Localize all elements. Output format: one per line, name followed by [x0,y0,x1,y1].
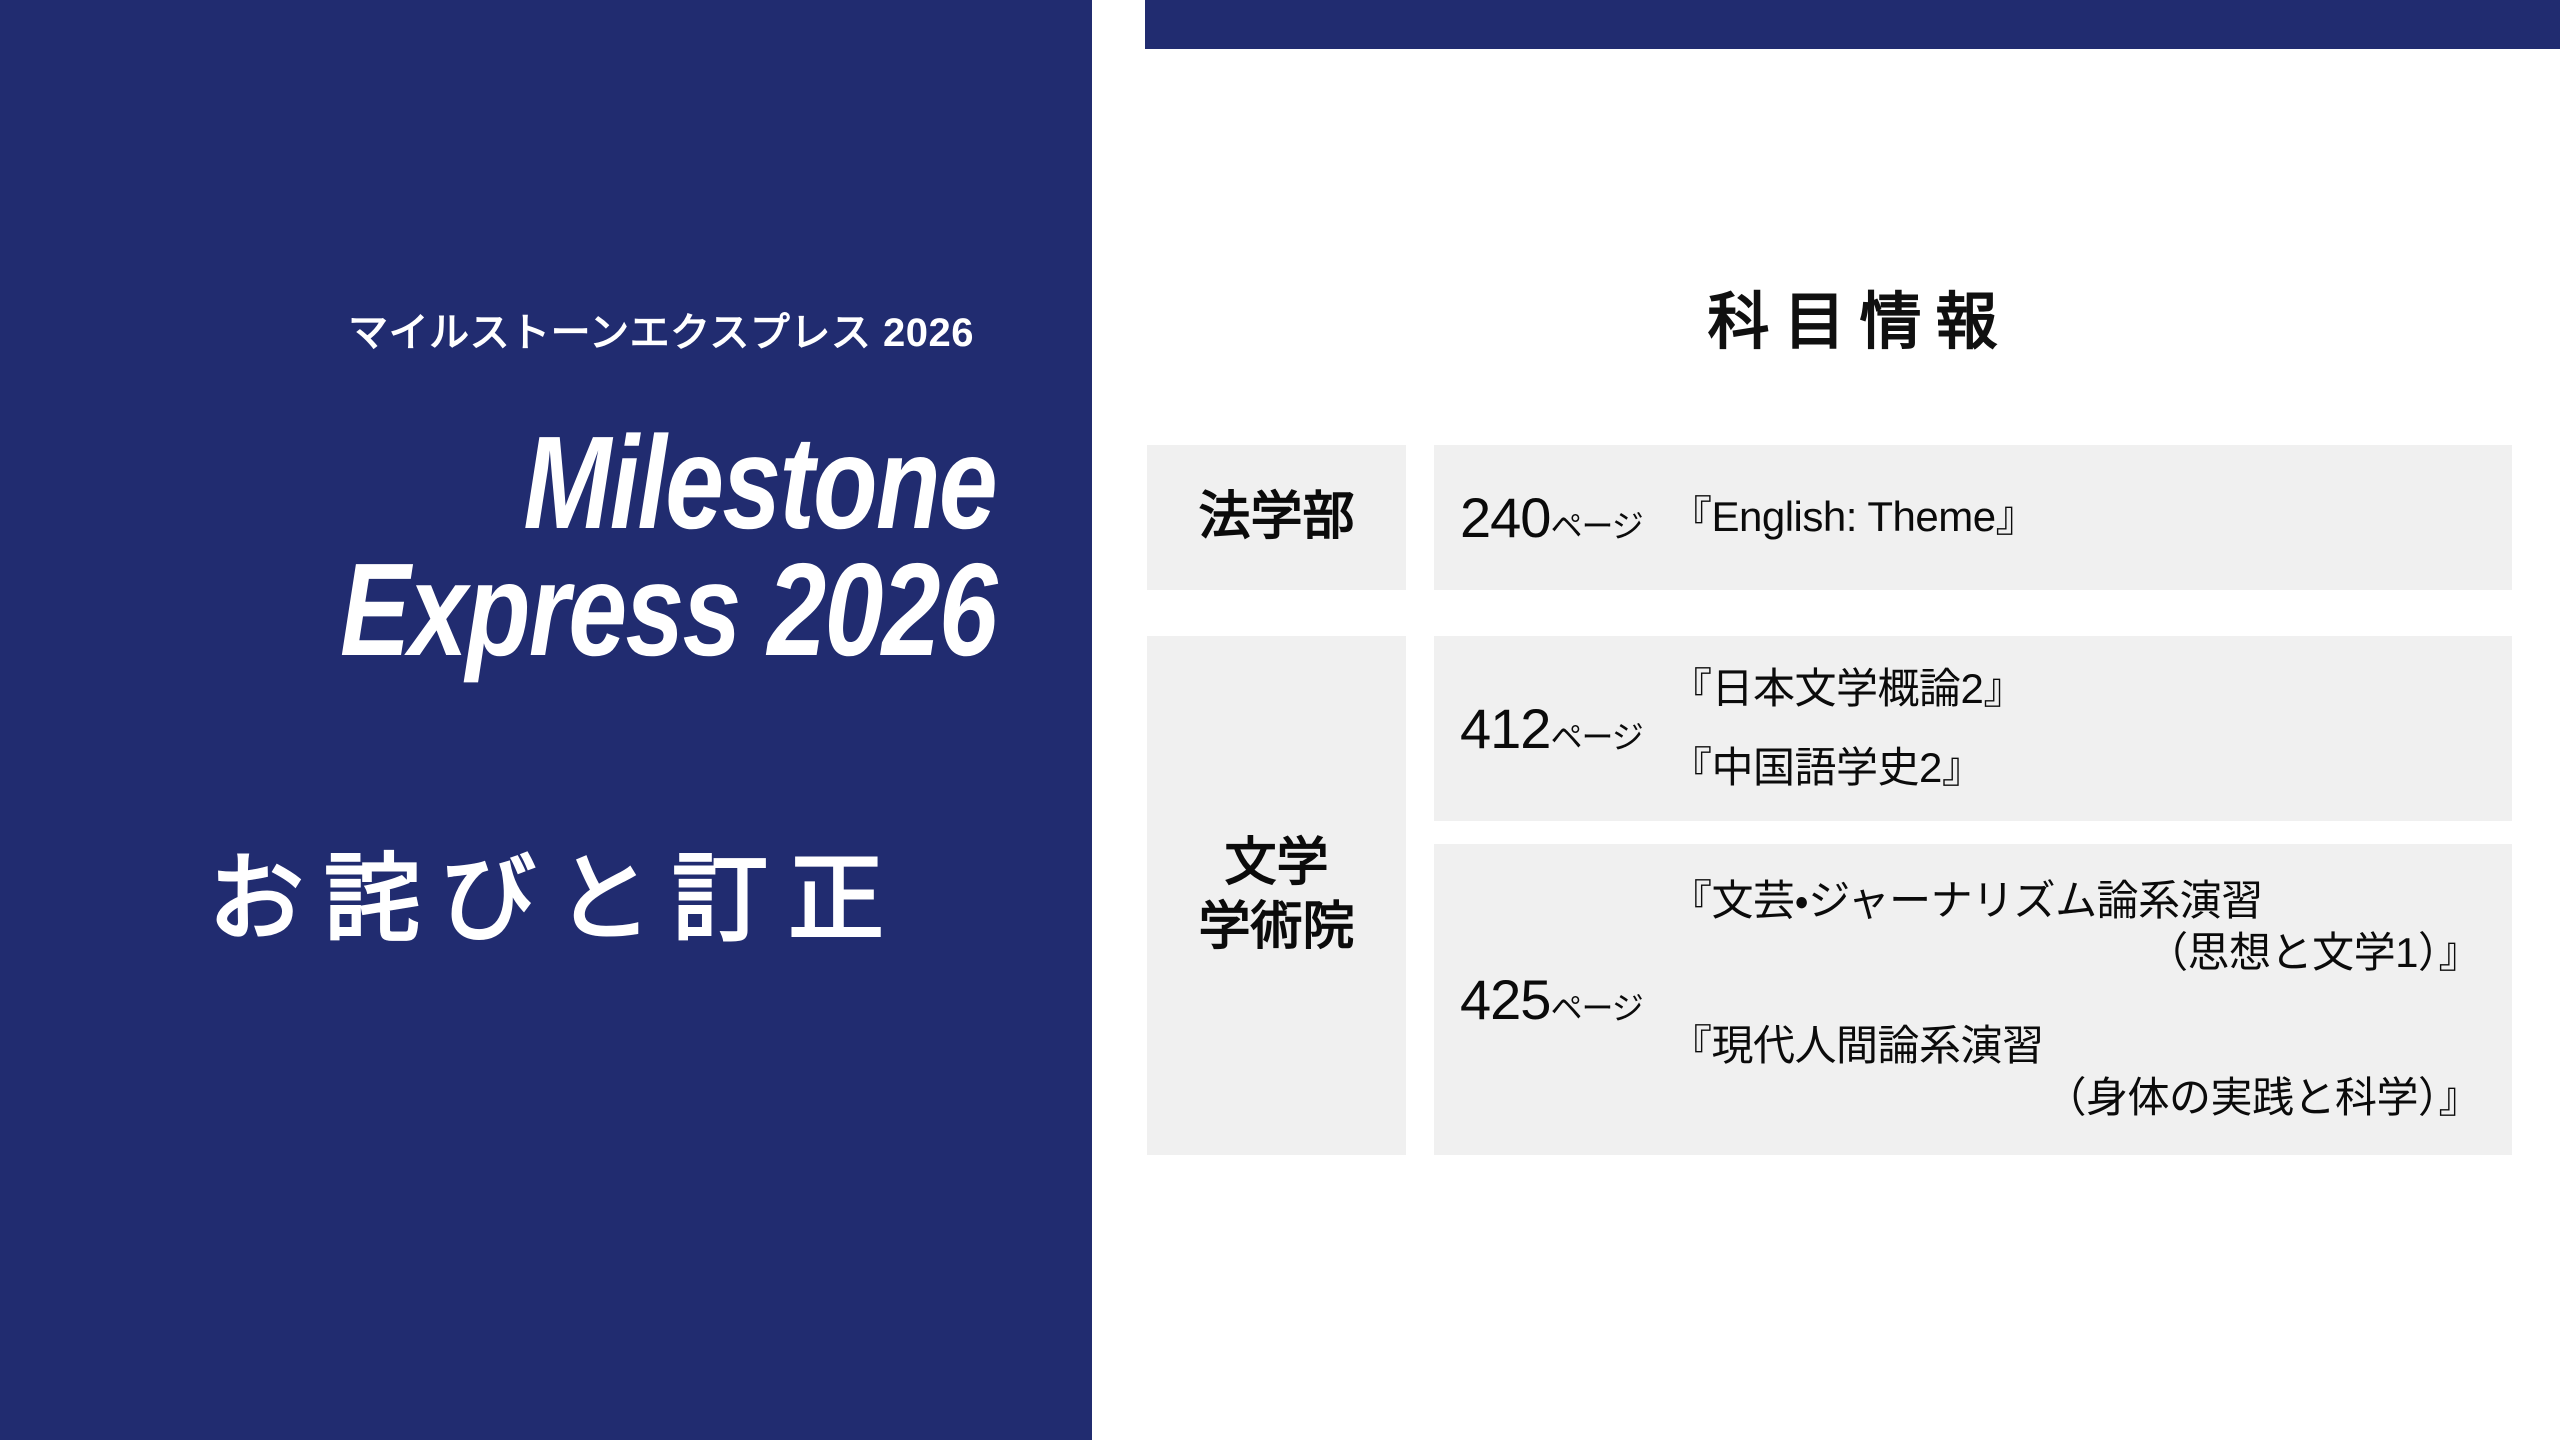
page-title: 科目情報 [1145,292,2560,354]
page-number-unit: ページ [1550,990,1642,1026]
page-number-value: 412 [1460,697,1550,760]
page-number: 412ページ [1460,701,1670,757]
brand-subtitle: マイルストーンエクスプレス 2026 [0,313,974,353]
page-number-value: 240 [1460,486,1550,549]
faculty-column: 文学 学術院 [1147,613,1406,1155]
entry-cell: 425ページ 『文芸・ジャーナリズム論系演習 （思想と文学1）』 『現代人間論系… [1434,844,2512,1155]
faculty-label-literature: 文学 学術院 [1147,636,1406,1155]
faculty-label-line-1: 文学 [1198,832,1354,895]
faculty-label-law: 法学部 [1147,445,1406,590]
apology-title: お詫びと訂正 [0,845,1092,955]
subject-list: 『日本文学概論2』 『中国語学史2』 [1670,650,2480,806]
top-accent-bar [1145,0,2560,49]
page-number-value: 425 [1460,968,1550,1031]
subject-line-1: 『日本文学概論2』 [1670,665,2025,712]
brand-logo-line-1: Milestone [199,420,996,547]
faculty-column: 法学部 [1147,445,1406,590]
brand-logo: Milestone Express 2026 [199,420,996,673]
subject-line-1: 『中国語学史2』 [1670,744,1983,791]
subject-item: 『日本文学概論2』 [1670,663,2480,715]
table-row: 文学 学術院 412ページ 『日本文学概論2』 [1147,613,2512,1155]
subject-info-table: 法学部 240ページ 『English: Theme』 [1147,445,2512,1155]
content-column: 412ページ 『日本文学概論2』 『中国語学史2』 [1434,613,2512,1155]
entry-cell: 412ページ 『日本文学概論2』 『中国語学史2』 [1434,636,2512,821]
left-brand-panel: マイルストーンエクスプレス 2026 Milestone Express 202… [0,0,1092,1440]
page-number: 425ページ [1460,972,1670,1028]
subject-line-2: （身体の実践と科学）』 [1670,1072,2480,1124]
page-number-unit: ページ [1550,508,1642,544]
brand-logo-line-2: Express 2026 [199,547,996,674]
page-number-unit: ページ [1550,719,1642,755]
subject-line-1: 『現代人間論系演習 [1670,1022,2044,1069]
right-content-panel: 科目情報 法学部 240ページ 『English: Theme』 [1092,0,2560,1440]
subject-item: 『中国語学史2』 [1670,742,2480,794]
subject-list: 『English: Theme』 [1670,491,2480,543]
faculty-label-line-2: 学術院 [1198,896,1354,959]
subject-item: 『文芸・ジャーナリズム論系演習 （思想と文学1）』 [1670,875,2480,979]
subject-item: 『現代人間論系演習 （身体の実践と科学）』 [1670,1020,2480,1124]
subject-line-1: 『English: Theme』 [1670,493,2037,540]
subject-item: 『English: Theme』 [1670,491,2480,543]
subject-list: 『文芸・ジャーナリズム論系演習 （思想と文学1）』 『現代人間論系演習 （身体の… [1670,855,2480,1143]
slide-root: マイルストーンエクスプレス 2026 Milestone Express 202… [0,0,2560,1440]
page-number: 240ページ [1460,490,1670,546]
subject-line-1: 『文芸・ジャーナリズム論系演習 [1670,877,2263,924]
table-row: 法学部 240ページ 『English: Theme』 [1147,445,2512,590]
subject-line-2: （思想と文学1）』 [1670,927,2480,979]
content-column: 240ページ 『English: Theme』 [1434,445,2512,590]
entry-cell: 240ページ 『English: Theme』 [1434,445,2512,590]
